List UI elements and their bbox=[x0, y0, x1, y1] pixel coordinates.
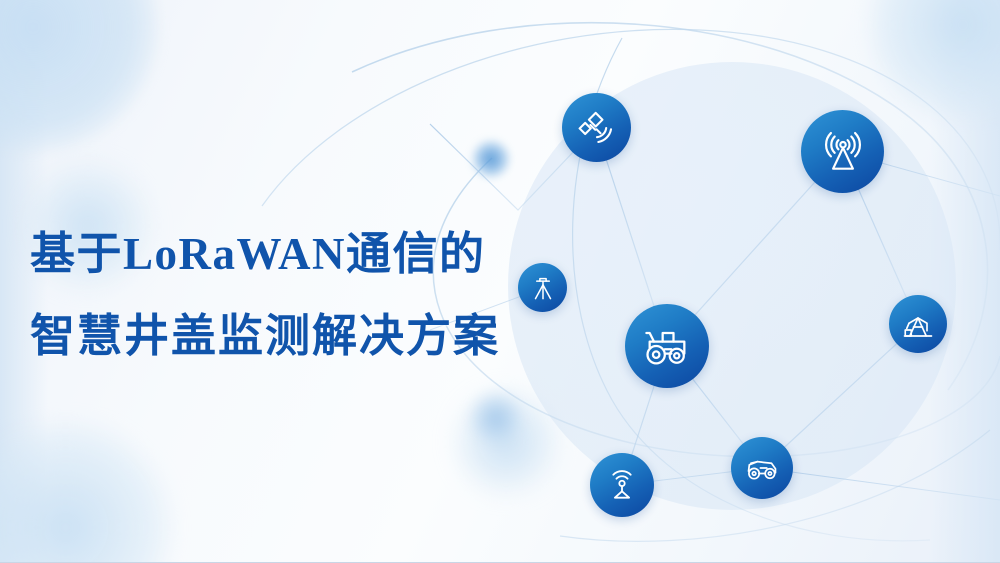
oil-pumpjack-icon bbox=[900, 306, 936, 342]
node-radio-tower[interactable] bbox=[801, 110, 884, 193]
tripod-survey-icon bbox=[528, 273, 558, 303]
node-oil-pumpjack[interactable] bbox=[889, 295, 947, 353]
node-satellite[interactable] bbox=[562, 93, 631, 162]
title-block: 基于LoRaWAN通信的 智慧井盖监测解决方案 bbox=[30, 232, 590, 359]
satellite-icon bbox=[576, 107, 618, 149]
signal-beacon-icon bbox=[603, 466, 641, 504]
node-tripod-survey[interactable] bbox=[518, 263, 567, 312]
node-signal-beacon[interactable] bbox=[590, 453, 654, 517]
slide-canvas: 基于LoRaWAN通信的 智慧井盖监测解决方案 bbox=[0, 0, 1000, 563]
title-line-2: 智慧井盖监测解决方案 bbox=[30, 314, 590, 359]
node-mower-vehicle[interactable] bbox=[731, 437, 793, 499]
title-line-1: 基于LoRaWAN通信的 bbox=[30, 232, 590, 277]
tractor-icon bbox=[641, 320, 693, 372]
node-tractor[interactable] bbox=[625, 304, 709, 388]
radio-tower-icon bbox=[818, 127, 868, 177]
mower-vehicle-icon bbox=[743, 449, 781, 487]
